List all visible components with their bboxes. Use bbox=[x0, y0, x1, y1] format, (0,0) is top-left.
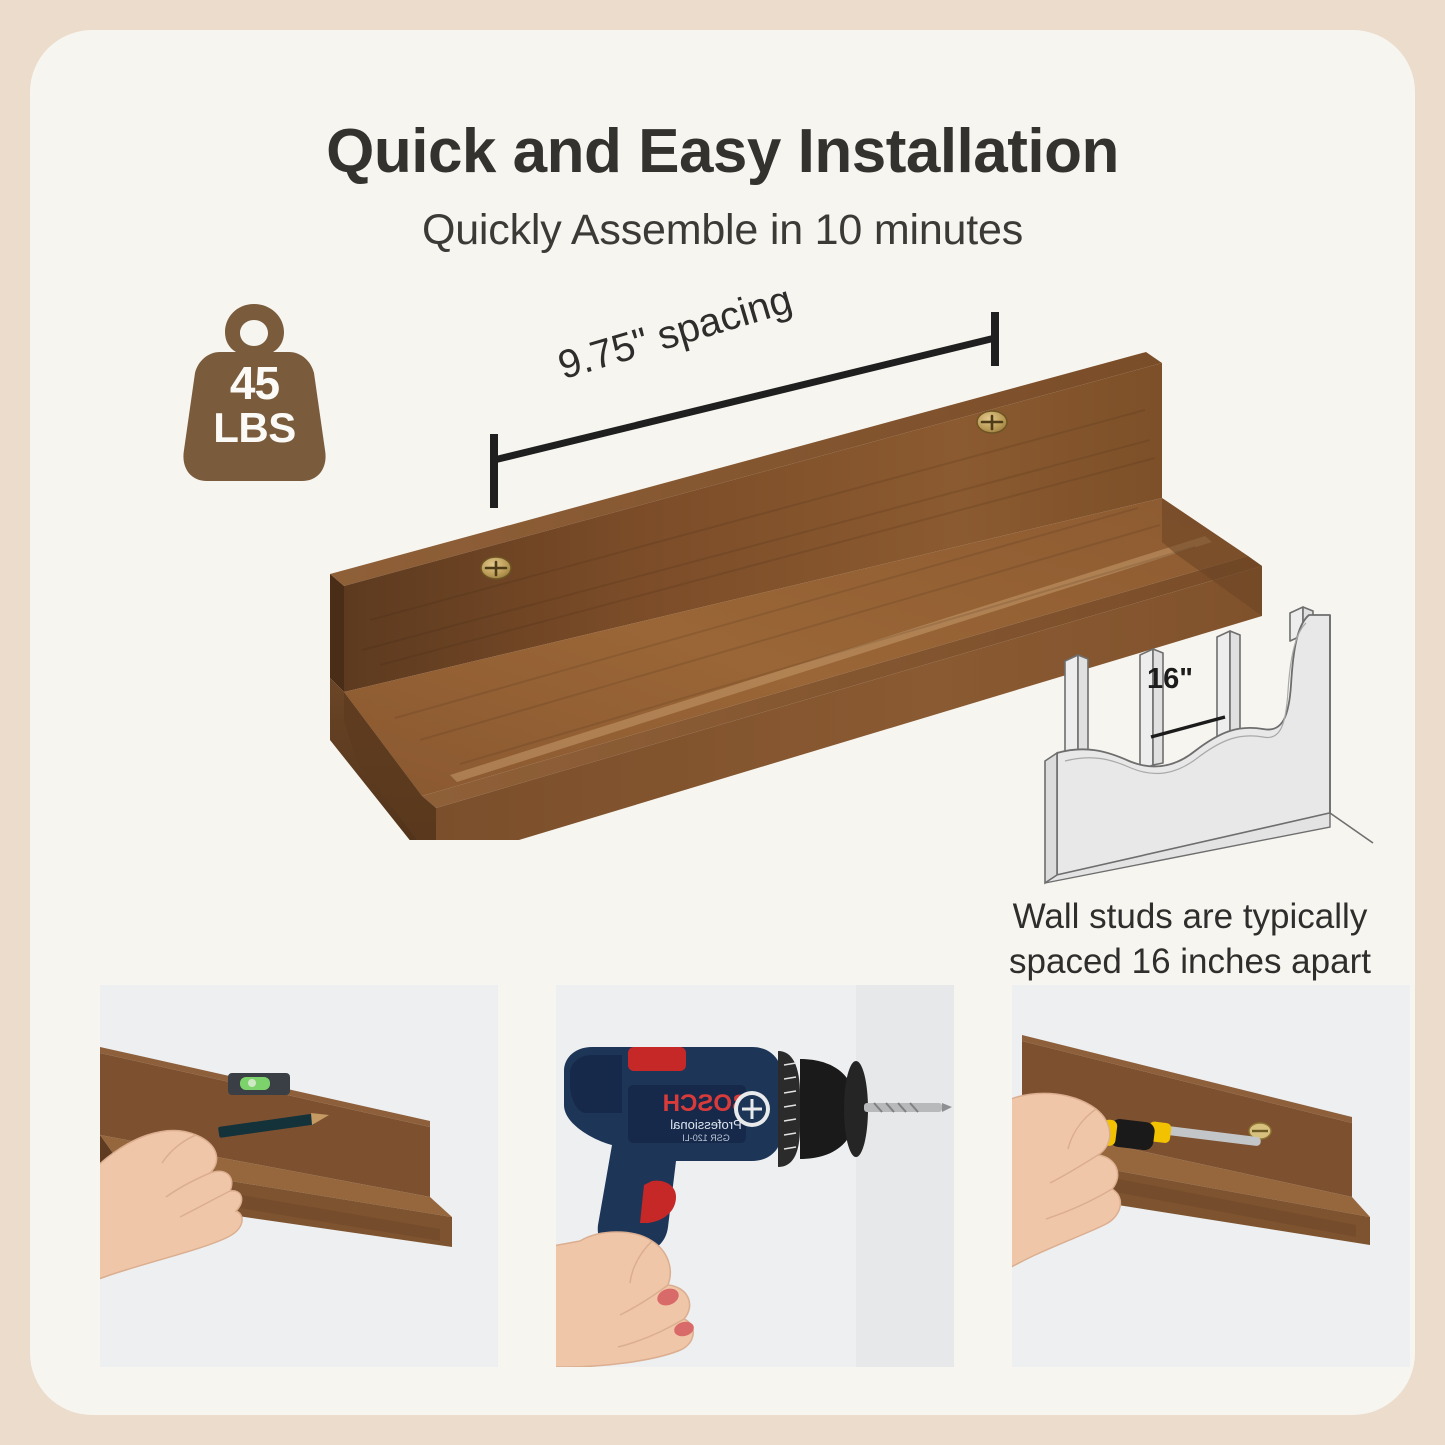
svg-text:GSR 120-LI: GSR 120-LI bbox=[682, 1133, 730, 1143]
studs-caption-line1: Wall studs are typically bbox=[1013, 897, 1368, 936]
studs-graphic bbox=[1025, 575, 1385, 895]
dimension-line-graphic bbox=[470, 300, 1030, 530]
installation-steps-photos: BOSCH Professional GSR 120-LI bbox=[100, 985, 1410, 1367]
infographic-panel: Quick and Easy Installation Quickly Asse… bbox=[30, 30, 1415, 1415]
drill-photo-graphic: BOSCH Professional GSR 120-LI bbox=[556, 985, 954, 1367]
studs-measure-label: 16" bbox=[1147, 663, 1193, 696]
spirit-level-icon bbox=[228, 1073, 290, 1095]
photo-mark-wall-with-pencil bbox=[100, 985, 498, 1367]
page-subtitle: Quickly Assemble in 10 minutes bbox=[30, 206, 1415, 255]
svg-text:Professional: Professional bbox=[670, 1117, 742, 1132]
screw-left bbox=[481, 557, 511, 579]
studs-caption: Wall studs are typically spaced 16 inche… bbox=[980, 895, 1400, 985]
photo-drill-holes: BOSCH Professional GSR 120-LI bbox=[556, 985, 954, 1367]
page-title: Quick and Easy Installation bbox=[30, 116, 1415, 187]
screwdriver-photo-graphic bbox=[1012, 985, 1410, 1367]
mark-wall-photo-graphic bbox=[100, 985, 498, 1367]
studs-caption-line2: spaced 16 inches apart bbox=[1009, 942, 1371, 981]
spacing-dimension: 9.75" spacing bbox=[470, 300, 1030, 530]
photo-drive-screws bbox=[1012, 985, 1410, 1367]
wall-studs-diagram: 16" bbox=[1025, 575, 1385, 895]
